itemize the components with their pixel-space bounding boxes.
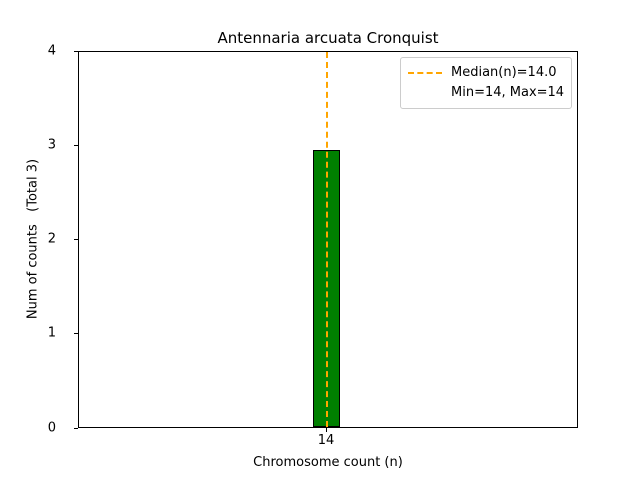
ytick-mark-0 [74,428,78,429]
legend: Median(n)=14.0 Min=14, Max=14 [400,57,572,109]
legend-item-minmax: Min=14, Max=14 [408,83,564,103]
legend-label-median: Median(n)=14.0 [451,65,557,81]
y-axis-label: Num of counts (Total 3) [23,51,45,428]
legend-label-minmax: Min=14, Max=14 [451,85,564,101]
xtick-mark-14 [326,428,327,432]
legend-item-median: Median(n)=14.0 [408,63,564,83]
xtick-label-14: 14 [296,433,356,448]
median-line [326,52,328,427]
chart-title: Antennaria arcuata Cronquist [78,29,578,47]
x-axis-label: Chromosome count (n) [78,455,578,471]
chart-figure: Antennaria arcuata Cronquist 4 3 2 1 0 N… [0,0,640,480]
dashed-line-icon [408,72,442,74]
